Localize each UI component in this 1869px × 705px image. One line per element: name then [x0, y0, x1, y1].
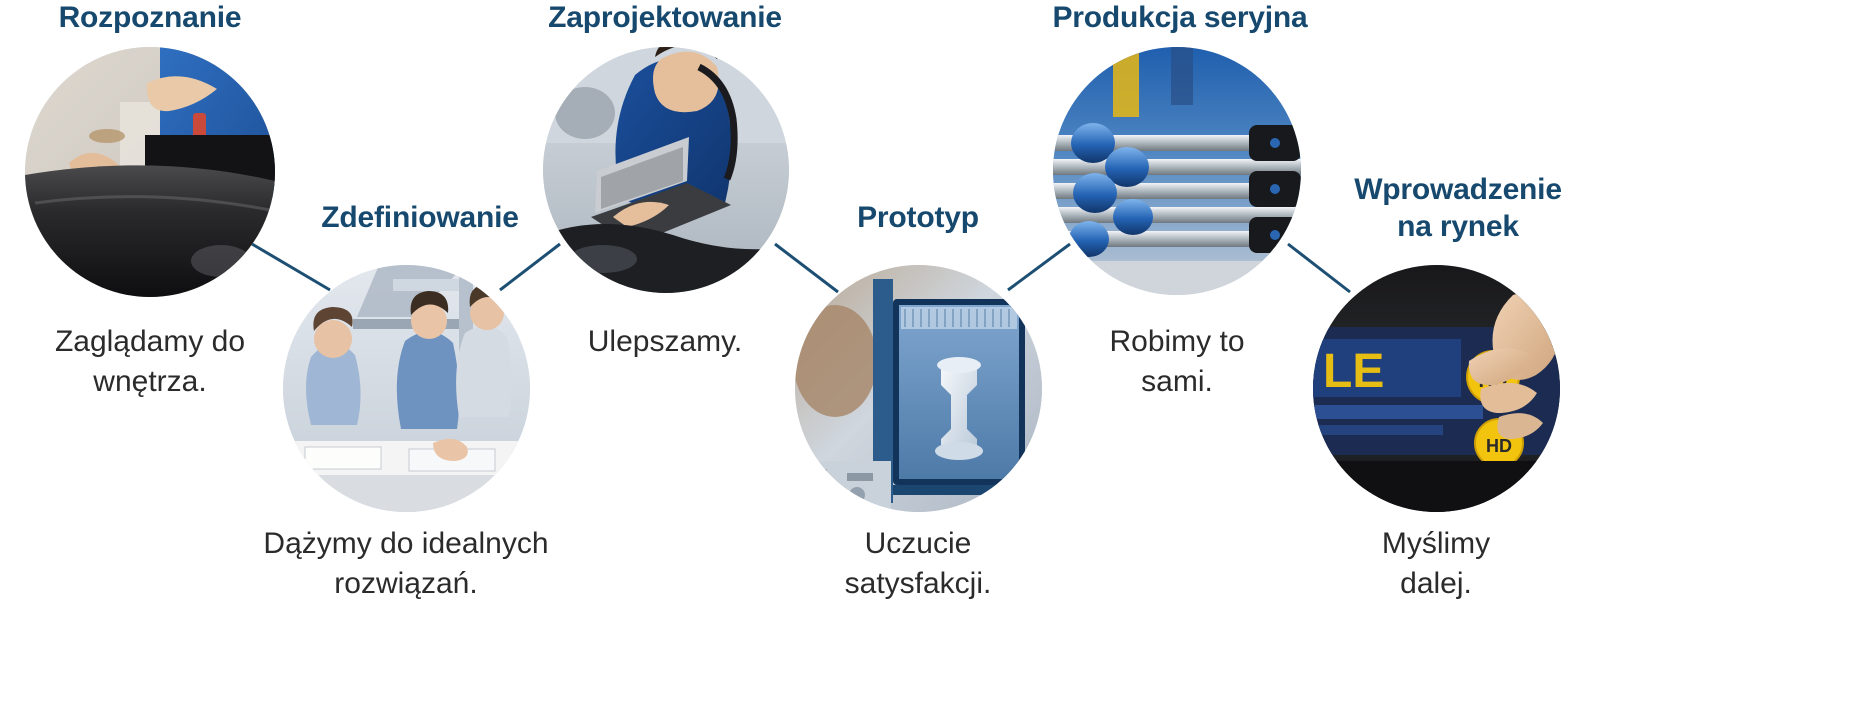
- step-image-wprowadzenie-na-rynek: LE HD HD: [1313, 265, 1560, 512]
- photo-label-sticker: LE HD HD: [1313, 265, 1560, 512]
- step-image-rozpoznanie: [25, 47, 275, 297]
- connector-2-3: [500, 244, 560, 290]
- step-image-zdefiniowanie: [283, 265, 530, 512]
- connector-3-4: [775, 244, 838, 292]
- connector-1-2: [252, 244, 330, 290]
- step-image-produkcja-seryjna: [1053, 47, 1301, 295]
- step-title-zdefiniowanie: Zdefiniowanie: [300, 200, 540, 237]
- photo-team-blueprints: [283, 265, 530, 512]
- photo-technician-laptop: [543, 47, 789, 293]
- step-title-wprowadzenie-na-rynek: Wprowadzenie na rynek: [1338, 172, 1578, 245]
- step-caption-rozpoznanie: Zaglądamy do wnętrza.: [15, 322, 285, 402]
- connector-5-6: [1288, 244, 1350, 292]
- step-caption-zdefiniowanie: Dążymy do idealnych rozwiązań.: [250, 524, 562, 604]
- photo-production-line: [1053, 47, 1301, 295]
- step-caption-prototyp: Uczucie satysfakcji.: [798, 524, 1038, 604]
- process-infographic: Rozpoznanie: [0, 0, 1869, 705]
- step-caption-wprowadzenie-na-rynek: Myślimy dalej.: [1336, 524, 1536, 604]
- step-title-rozpoznanie: Rozpoznanie: [30, 0, 270, 37]
- step-title-zaprojektowanie: Zaprojektowanie: [545, 0, 785, 37]
- step-image-zaprojektowanie: [543, 47, 789, 293]
- step-title-prototyp: Prototyp: [818, 200, 1018, 237]
- svg-text:HD: HD: [1486, 436, 1512, 456]
- step-title-produkcja-seryjna: Produkcja seryjna: [1050, 0, 1310, 37]
- connector-4-5: [1008, 244, 1070, 290]
- step-caption-produkcja-seryjna: Robimy to sami.: [1055, 322, 1299, 402]
- step-image-prototyp: [795, 265, 1042, 512]
- photo-mechanic-tablet: [25, 47, 275, 297]
- svg-text:LE: LE: [1323, 345, 1384, 398]
- step-caption-zaprojektowanie: Ulepszamy.: [545, 322, 785, 362]
- photo-cad-monitor: [795, 265, 1042, 512]
